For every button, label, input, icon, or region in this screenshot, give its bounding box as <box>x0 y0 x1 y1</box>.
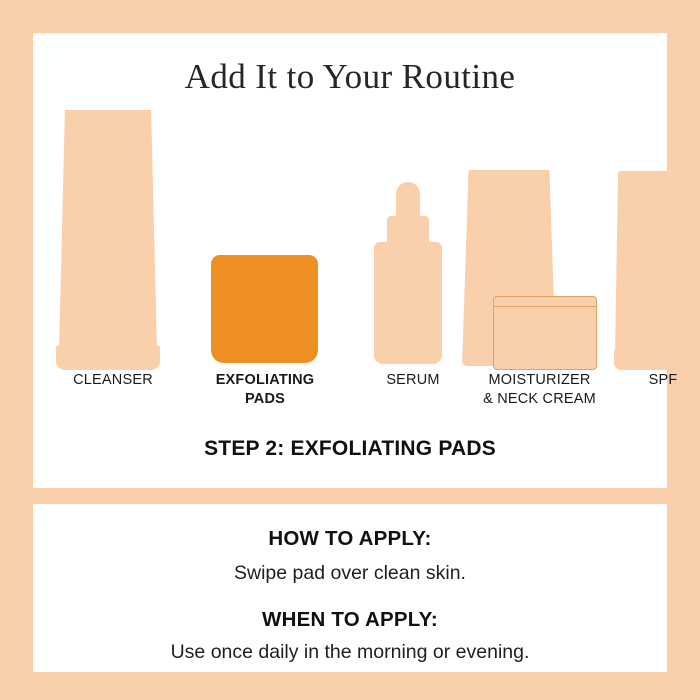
how-to-apply-text: Swipe pad over clean skin. <box>33 562 667 585</box>
product-spf <box>603 110 700 370</box>
cleanser-tube-cap-icon <box>56 345 160 370</box>
product-label-cleanser: CLEANSER <box>33 371 193 390</box>
when-to-apply-text: Use once daily in the morning or evening… <box>33 641 667 664</box>
product-label-exfoliating-pads-line2: PADS <box>185 390 345 409</box>
page-title: Add It to Your Routine <box>0 57 700 97</box>
product-exfoliating-pads <box>185 110 345 370</box>
product-cleanser <box>33 110 193 370</box>
when-to-apply-heading: WHEN TO APPLY: <box>33 608 667 632</box>
cleanser-tube-body-icon <box>59 110 157 353</box>
routine-infographic: Add It to Your Routine <box>0 0 700 700</box>
product-label-exfoliating-pads-line1: EXFOLIATING <box>185 371 345 390</box>
product-label-exfoliating-pads: EXFOLIATING PADS <box>185 371 345 409</box>
product-label-moisturizer-line2: & NECK CREAM <box>433 390 646 409</box>
spf-tube-body-icon <box>615 171 677 356</box>
how-to-apply-heading: HOW TO APPLY: <box>33 527 667 551</box>
product-moisturizer-neck-cream <box>452 110 627 370</box>
spf-tube-cap-icon <box>614 350 678 370</box>
serum-dropper-bulb-icon <box>396 182 420 220</box>
pads-jar-icon <box>211 255 318 363</box>
product-label-spf: SPF <box>603 371 700 390</box>
serum-bottle-body-icon <box>374 242 442 364</box>
product-label-row: CLEANSER EXFOLIATING PADS SERUM MOISTURI… <box>33 371 667 421</box>
neck-cream-jar-lid-icon <box>493 306 597 308</box>
product-illustration-row <box>33 100 667 370</box>
step-banner: STEP 2: EXFOLIATING PADS <box>33 437 667 461</box>
neck-cream-jar-icon <box>493 296 597 370</box>
